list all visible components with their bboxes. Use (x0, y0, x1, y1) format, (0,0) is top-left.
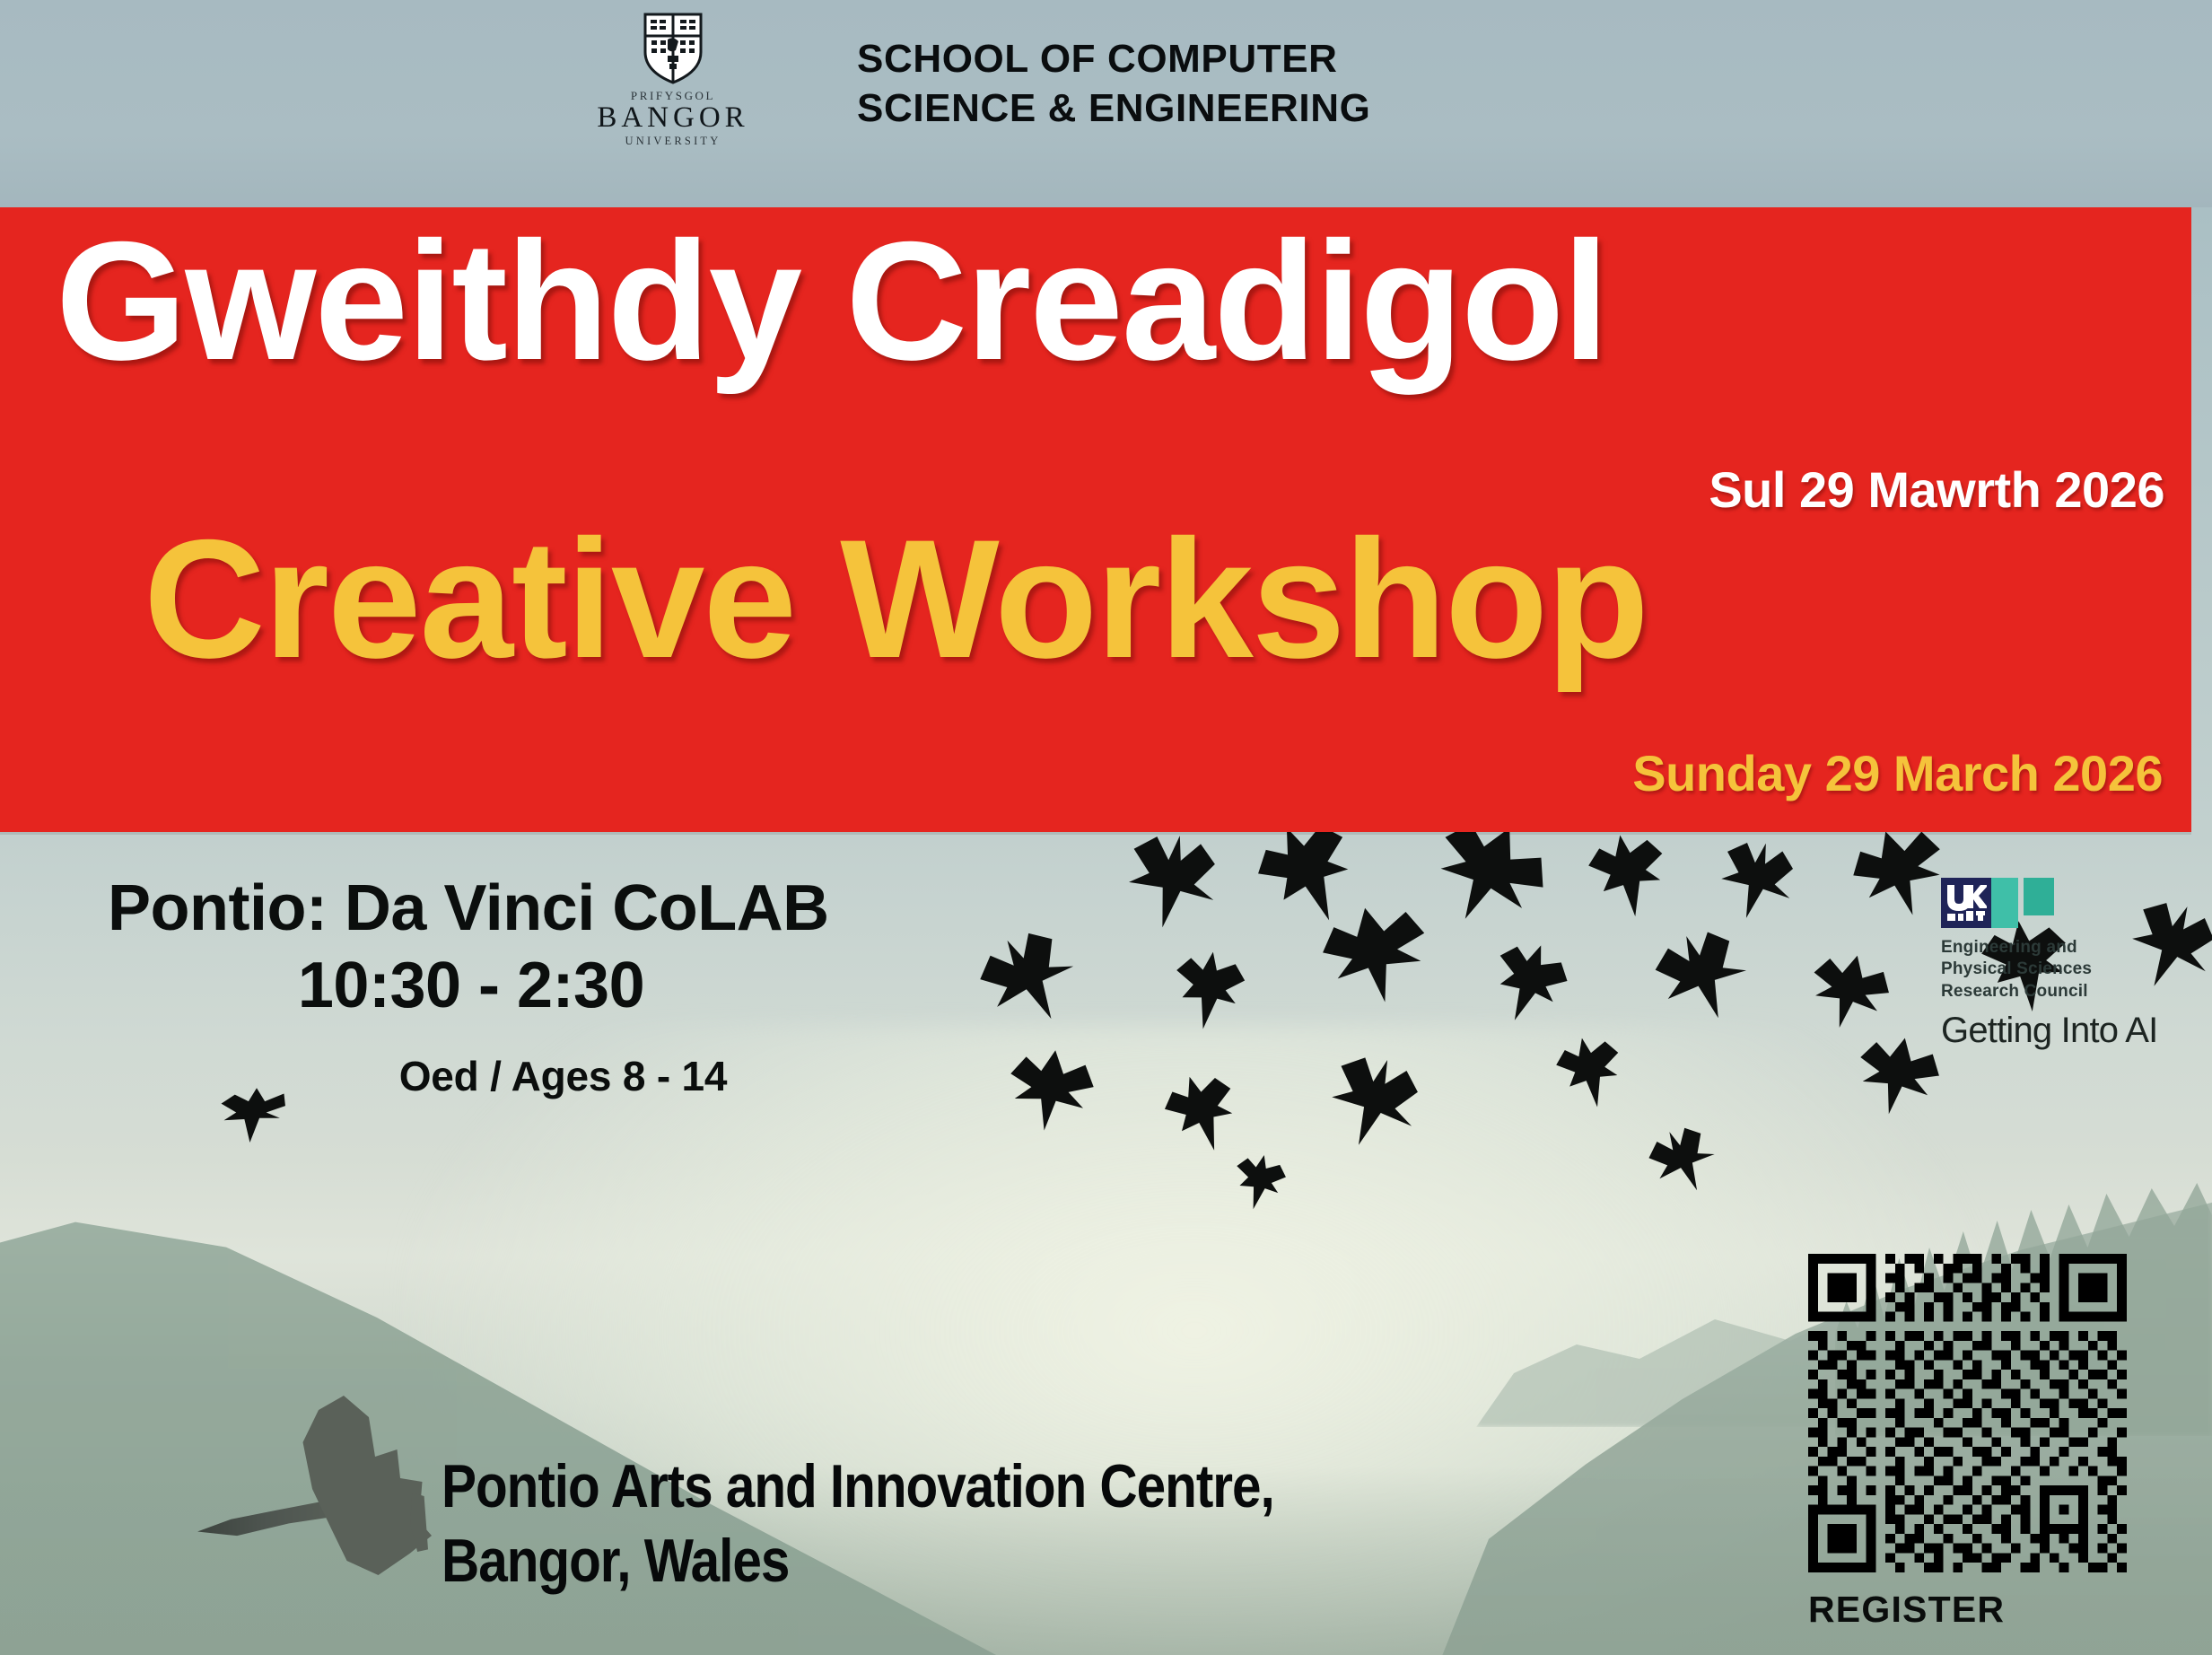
register-label: REGISTER (1808, 1589, 2131, 1631)
council-line-2: Physical Sciences (1941, 959, 2201, 980)
welsh-date: Sul 29 Mawrth 2026 (1709, 460, 2164, 519)
school-title: SCHOOL OF COMPUTER SCIENCE & ENGINEERING (857, 34, 1370, 133)
venue-time: 10:30 - 2:30 (108, 952, 933, 1020)
research-council-name: Engineering and Physical Sciences Resear… (1941, 937, 2201, 1003)
bangor-university-logo: PRIFYSGOL BANGOR UNIVERSITY (588, 13, 758, 146)
council-line-1: Engineering and (1941, 937, 2201, 959)
council-line-3: Research Council (1941, 981, 2201, 1003)
registration-block[interactable]: REGISTER (1808, 1254, 2131, 1631)
qr-code-icon[interactable] (1808, 1254, 2127, 1572)
university-prifysgol-label: PRIFYSGOL (588, 90, 758, 101)
school-title-line1: SCHOOL OF COMPUTER (857, 34, 1370, 83)
poster-header: PRIFYSGOL BANGOR UNIVERSITY SCHOOL OF CO… (0, 0, 2212, 207)
ukri-mark-icon (1941, 878, 1991, 928)
funder-block: Engineering and Physical Sciences Resear… (1941, 878, 2201, 1051)
coat-of-arms-shield-icon (643, 13, 703, 84)
school-title-line2: SCIENCE & ENGINEERING (857, 83, 1370, 133)
english-date: Sunday 29 March 2026 (1632, 744, 2163, 802)
venue-location: Pontio: Da Vinci CoLAB (108, 875, 933, 943)
ukri-teal-bar-2 (2024, 878, 2054, 915)
ukri-teal-bar-1 (1991, 878, 2018, 928)
welsh-title: Gweithdy Creadigol (56, 216, 1607, 385)
address-block: Pontio Arts and Innovation Centre, Bango… (442, 1449, 1274, 1598)
venue-details: Pontio: Da Vinci CoLAB 10:30 - 2:30 Oed … (108, 875, 933, 1100)
english-title: Creative Workshop (144, 514, 1648, 683)
programme-name: Getting Into AI (1941, 1011, 2201, 1051)
ukri-logo (1941, 878, 2201, 928)
university-sublabel: UNIVERSITY (588, 136, 758, 147)
large-flying-bird-silhouette-icon (206, 1387, 476, 1593)
venue-ages: Oed / Ages 8 - 14 (108, 1052, 933, 1100)
title-banner: Gweithdy Creadigol Sul 29 Mawrth 2026 Cr… (0, 207, 2191, 832)
address-line-2: Bangor, Wales (442, 1524, 1274, 1598)
poster: PRIFYSGOL BANGOR UNIVERSITY SCHOOL OF CO… (0, 0, 2212, 1655)
address-line-1: Pontio Arts and Innovation Centre, (442, 1449, 1274, 1524)
university-name-label: BANGOR (588, 101, 758, 136)
